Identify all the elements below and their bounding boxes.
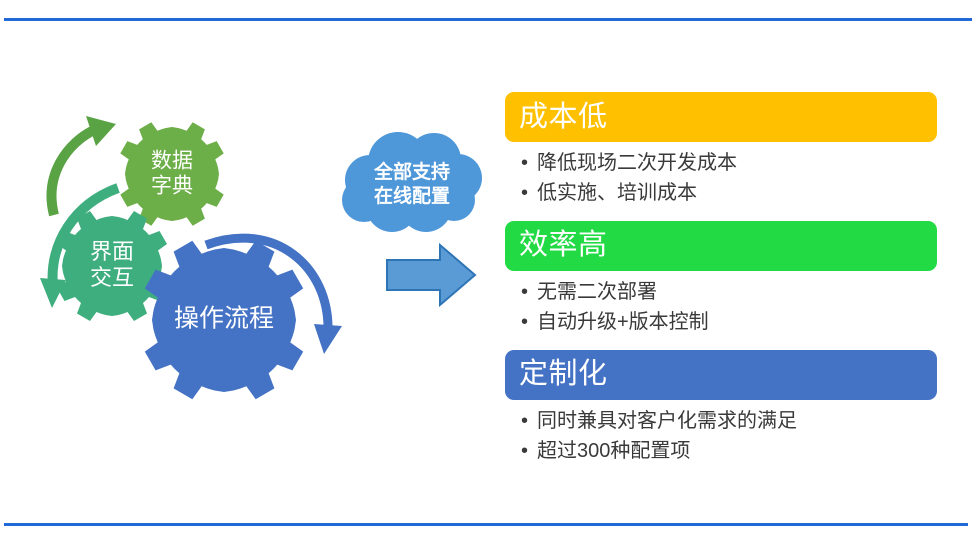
feature-title-cost: 成本低 bbox=[519, 103, 608, 132]
bottom-divider-rule bbox=[4, 523, 968, 526]
feature-item-text: 自动升级+版本控制 bbox=[537, 307, 937, 337]
feature-list: 成本低 • 降低现场二次开发成本 • 低实施、培训成本 效率高 • 无需二次部署… bbox=[505, 92, 937, 478]
rotation-arrow-upper-icon bbox=[52, 116, 116, 215]
feature-bar-efficiency[interactable]: 效率高 bbox=[505, 221, 937, 271]
top-divider-rule bbox=[4, 18, 972, 21]
feature-bar-cost[interactable]: 成本低 bbox=[505, 92, 937, 142]
feature-block-efficiency: 效率高 • 无需二次部署 • 自动升级+版本控制 bbox=[505, 221, 937, 346]
gear-ui-interaction-label-line1: 界面 bbox=[90, 239, 134, 264]
list-item: • 降低现场二次开发成本 bbox=[521, 148, 937, 178]
list-item: • 同时兼具对客户化需求的满足 bbox=[521, 406, 937, 436]
list-item: • 无需二次部署 bbox=[521, 277, 937, 307]
bullet-icon: • bbox=[521, 148, 537, 178]
bullet-icon: • bbox=[521, 178, 537, 208]
gear-data-dictionary-label-line2: 字典 bbox=[151, 175, 193, 198]
feature-item-text: 同时兼具对客户化需求的满足 bbox=[537, 406, 937, 436]
cloud-label-line1: 全部支持 bbox=[373, 160, 450, 183]
feature-item-text: 低实施、培训成本 bbox=[537, 178, 937, 208]
gear-operation-flow-label: 操作流程 bbox=[174, 305, 274, 333]
cloud-label-line2: 在线配置 bbox=[374, 184, 450, 207]
feature-block-customization: 定制化 • 同时兼具对客户化需求的满足 • 超过300种配置项 bbox=[505, 350, 937, 475]
feature-item-text: 超过300种配置项 bbox=[537, 436, 937, 466]
bullet-icon: • bbox=[521, 277, 537, 307]
list-item: • 超过300种配置项 bbox=[521, 436, 937, 466]
feature-item-text: 无需二次部署 bbox=[537, 277, 937, 307]
feature-block-cost: 成本低 • 降低现场二次开发成本 • 低实施、培训成本 bbox=[505, 92, 937, 217]
feature-title-customization: 定制化 bbox=[519, 360, 608, 389]
feature-items-efficiency: • 无需二次部署 • 自动升级+版本控制 bbox=[505, 271, 937, 346]
list-item: • 自动升级+版本控制 bbox=[521, 307, 937, 337]
feature-items-customization: • 同时兼具对客户化需求的满足 • 超过300种配置项 bbox=[505, 400, 937, 475]
gear-data-dictionary-label-line1: 数据 bbox=[151, 150, 193, 173]
feature-item-text: 降低现场二次开发成本 bbox=[537, 148, 937, 178]
gear-ui-interaction-label-line2: 交互 bbox=[90, 265, 134, 290]
bullet-icon: • bbox=[521, 307, 537, 337]
feature-items-cost: • 降低现场二次开发成本 • 低实施、培训成本 bbox=[505, 142, 937, 217]
feature-title-efficiency: 效率高 bbox=[519, 231, 608, 260]
right-arrow-icon bbox=[387, 245, 475, 305]
gears-illustration: 数据 字典 界面 交互 操作流程 全部支持 在线配置 bbox=[20, 80, 500, 430]
bullet-icon: • bbox=[521, 436, 537, 466]
bullet-icon: • bbox=[521, 406, 537, 436]
feature-bar-customization[interactable]: 定制化 bbox=[505, 350, 937, 400]
list-item: • 低实施、培训成本 bbox=[521, 178, 937, 208]
